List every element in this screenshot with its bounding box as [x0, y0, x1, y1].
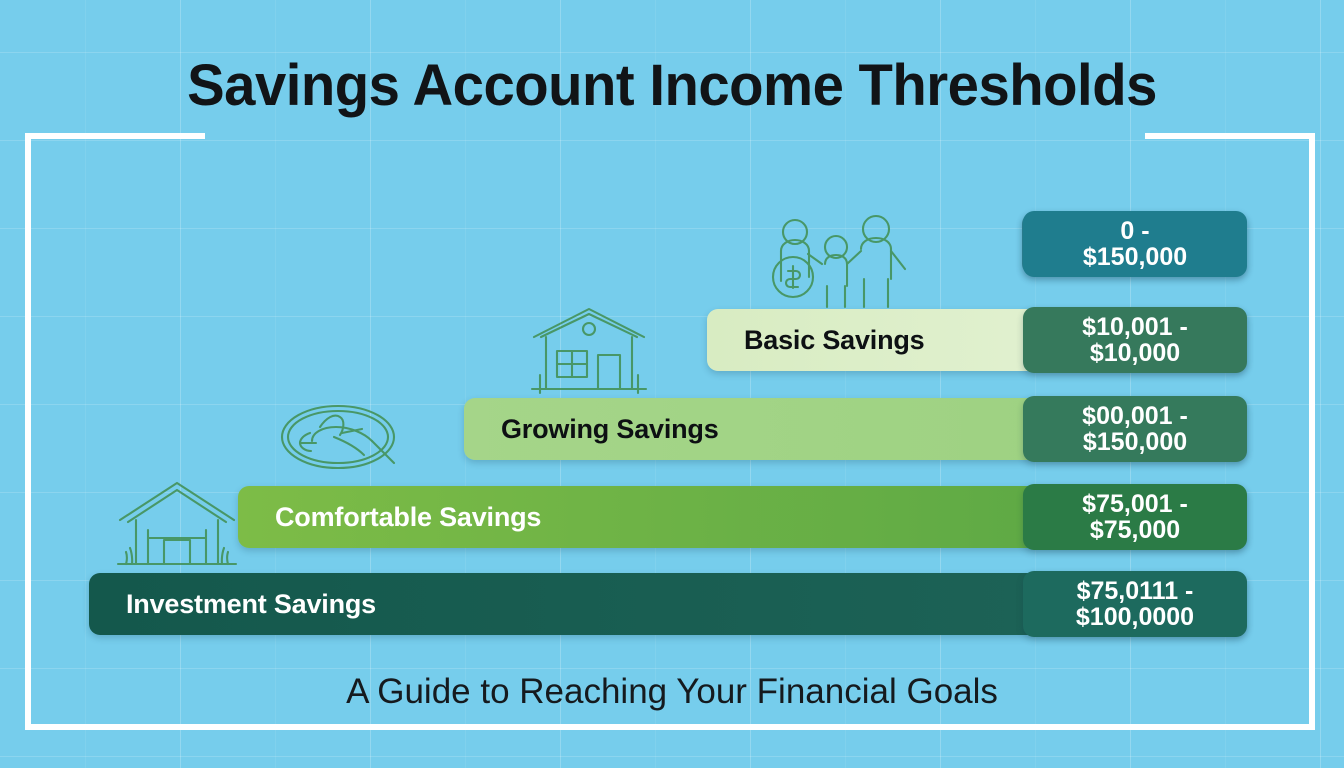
house-icon [524, 303, 654, 399]
bar-row-3[interactable]: Comfortable Savings $75,001 - $75,000 [238, 486, 1247, 548]
badge-line2-4: $100,0000 [1076, 604, 1194, 631]
bar-label-1: Basic Savings [707, 325, 925, 356]
bar-row-0[interactable]: 0 - $150,000 [1022, 213, 1247, 275]
cabin-home-icon [112, 478, 242, 570]
badge-line1-4: $75,0111 - [1077, 578, 1194, 605]
badge-line2-3: $75,000 [1090, 517, 1180, 544]
badge-line1-3: $75,001 - [1082, 491, 1188, 518]
bar-label-3: Comfortable Savings [238, 502, 541, 533]
bar-row-2[interactable]: Growing Savings $00,001 - $150,000 [464, 398, 1247, 460]
frame-border-top-right [1145, 133, 1315, 139]
badge-line2-1: $10,000 [1090, 340, 1180, 367]
bar-badge-3[interactable]: $75,001 - $75,000 [1023, 484, 1247, 550]
frame-border-top-left [25, 133, 205, 139]
frame-border-left [25, 133, 31, 730]
badge-line1-0: 0 - [1120, 218, 1149, 245]
badge-line1-1: $10,001 - [1082, 314, 1188, 341]
badge-line2-0: $150,000 [1083, 244, 1187, 271]
bar-badge-4[interactable]: $75,0111 - $100,0000 [1023, 571, 1247, 637]
bar-badge-2[interactable]: $00,001 - $150,000 [1023, 396, 1247, 462]
airplane-travel-icon [272, 393, 412, 483]
bar-row-1[interactable]: Basic Savings $10,001 - $10,000 [707, 309, 1247, 371]
frame-border-right [1309, 133, 1315, 730]
page-subtitle: A Guide to Reaching Your Financial Goals [0, 672, 1344, 712]
frame-border-bottom [25, 724, 1315, 730]
bar-badge-1[interactable]: $10,001 - $10,000 [1023, 307, 1247, 373]
bar-label-4: Investment Savings [89, 589, 376, 620]
bar-label-2: Growing Savings [464, 414, 719, 445]
badge-line1-2: $00,001 - [1082, 403, 1188, 430]
page-title: Savings Account Income Thresholds [20, 52, 1324, 119]
badge-line2-2: $150,000 [1083, 429, 1187, 456]
bar-badge-0[interactable]: 0 - $150,000 [1023, 211, 1247, 277]
family-money-icon [757, 209, 907, 309]
bar-row-4[interactable]: Investment Savings $75,0111 - $100,0000 [89, 573, 1247, 635]
